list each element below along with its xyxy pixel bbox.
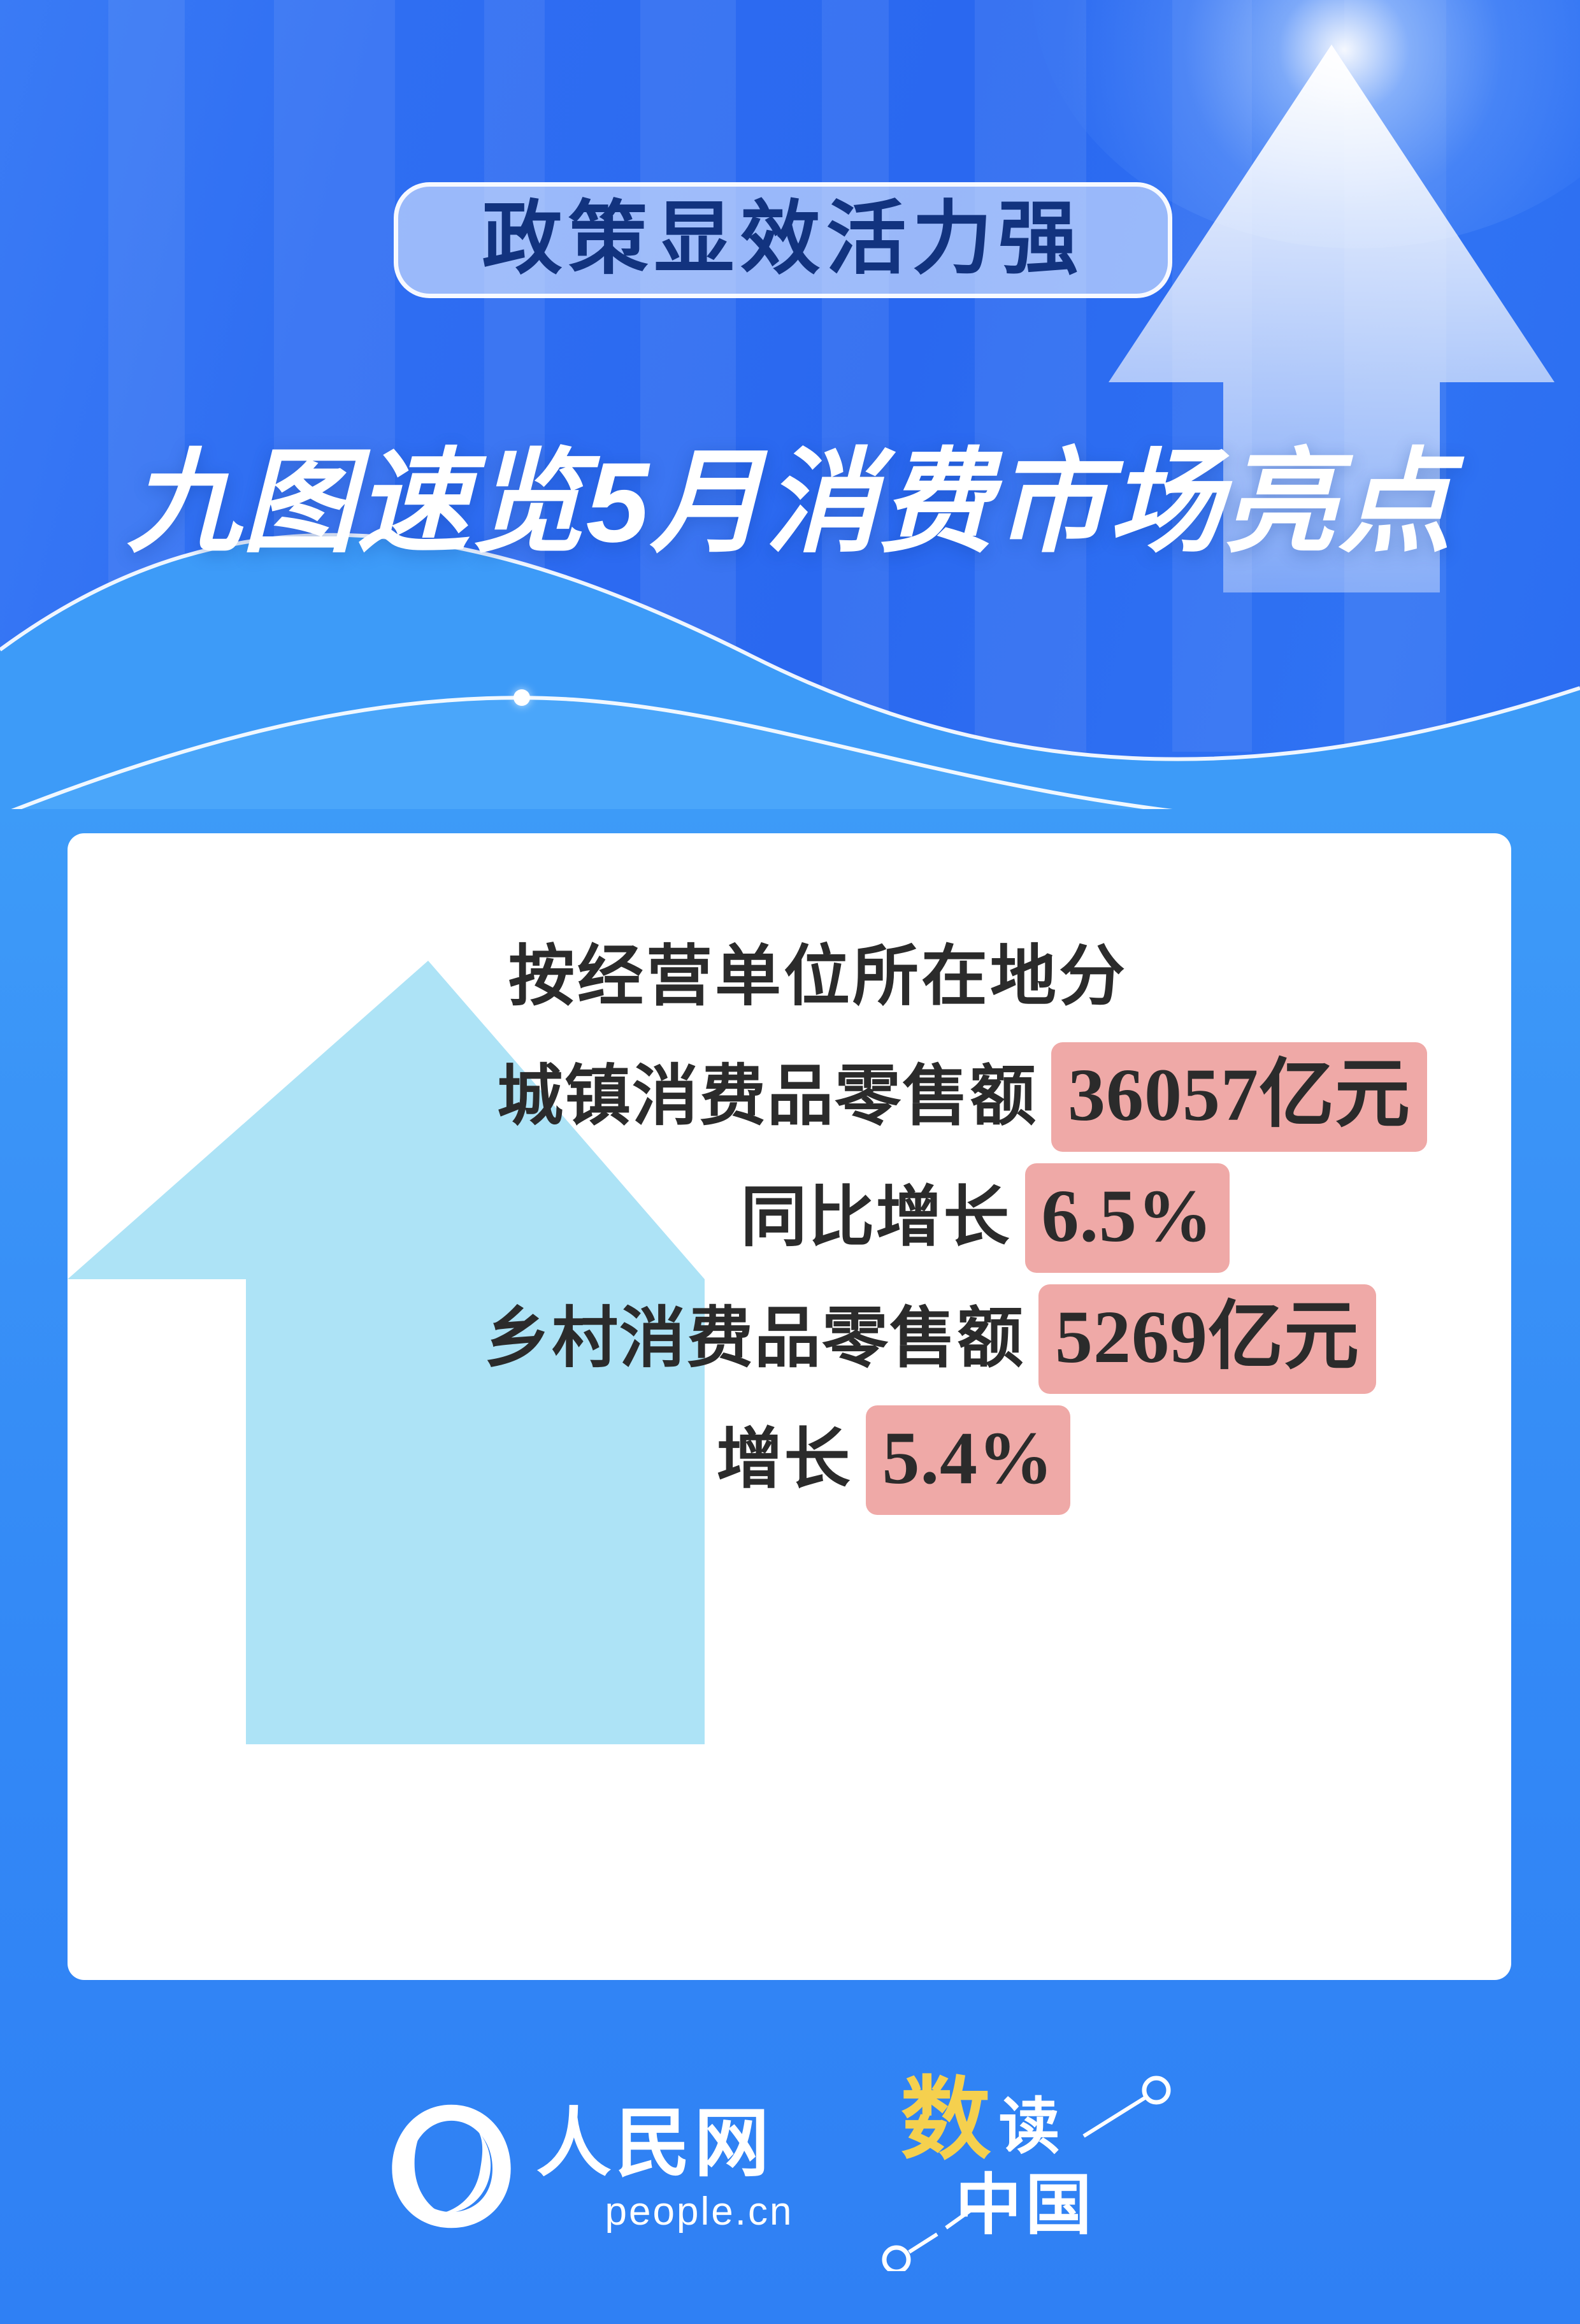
people-cn-latin-text: people.cn: [605, 2192, 794, 2232]
table-row: 增长 5.4%: [716, 1405, 1070, 1515]
shudu-shu-char: 数: [900, 2075, 991, 2165]
people-globe-icon: [383, 2098, 520, 2235]
content-card: 按经营单位所在地分 城镇消费品零售额 36057亿元 同比增长 6.5% 乡村消…: [68, 833, 1511, 1980]
table-row: 同比增长 6.5%: [740, 1163, 1230, 1273]
people-cn-logo: 人民网 people.cn: [383, 2098, 794, 2235]
row-label-rural-growth: 增长: [716, 1423, 851, 1497]
row-value-urban-growth: 6.5%: [1025, 1163, 1230, 1273]
wave-dot-marker: [513, 689, 530, 706]
row-label-rural-retail: 乡村消费品零售额: [484, 1302, 1024, 1376]
footer: 人民网 people.cn 数 读 中国: [0, 2039, 1580, 2293]
shudu-top-row: 数 读: [900, 2075, 1059, 2165]
card-heading-row: 按经营单位所在地分: [508, 940, 1128, 1014]
card-heading: 按经营单位所在地分: [508, 940, 1128, 1014]
eyebrow-title-text: 政策显效活力强: [482, 200, 1084, 280]
table-row: 城镇消费品零售额 36057亿元: [497, 1042, 1427, 1152]
shudu-du-char: 读: [998, 2097, 1059, 2158]
shudu-zhongguo-text: 中国: [955, 2173, 1095, 2239]
row-value-rural-growth: 5.4%: [866, 1405, 1071, 1515]
row-value-rural-retail: 5269亿元: [1038, 1284, 1376, 1394]
infographic-poster: 政策显效活力强 九图速览5月消费市场亮点 按经营单位所在地分 城镇消费品零售额 …: [0, 0, 1580, 2324]
page-title: 九图速览5月消费市场亮点: [0, 446, 1580, 559]
people-cn-wordmark: 人民网 people.cn: [536, 2107, 794, 2232]
background-stripes: [0, 0, 1580, 752]
row-label-urban-retail: 城镇消费品零售额: [497, 1060, 1037, 1134]
card-rows: 按经营单位所在地分 城镇消费品零售额 36057亿元 同比增长 6.5% 乡村消…: [68, 940, 1427, 1515]
row-label-urban-growth: 同比增长: [740, 1181, 1010, 1255]
shudu-zhongguo-logo: 数 读 中国: [859, 2061, 1197, 2271]
row-value-urban-retail: 36057亿元: [1051, 1042, 1427, 1152]
people-cn-han-text: 人民网: [536, 2107, 773, 2182]
table-row: 乡村消费品零售额 5269亿元: [484, 1284, 1376, 1394]
eyebrow-title-badge: 政策显效活力强: [394, 182, 1172, 298]
